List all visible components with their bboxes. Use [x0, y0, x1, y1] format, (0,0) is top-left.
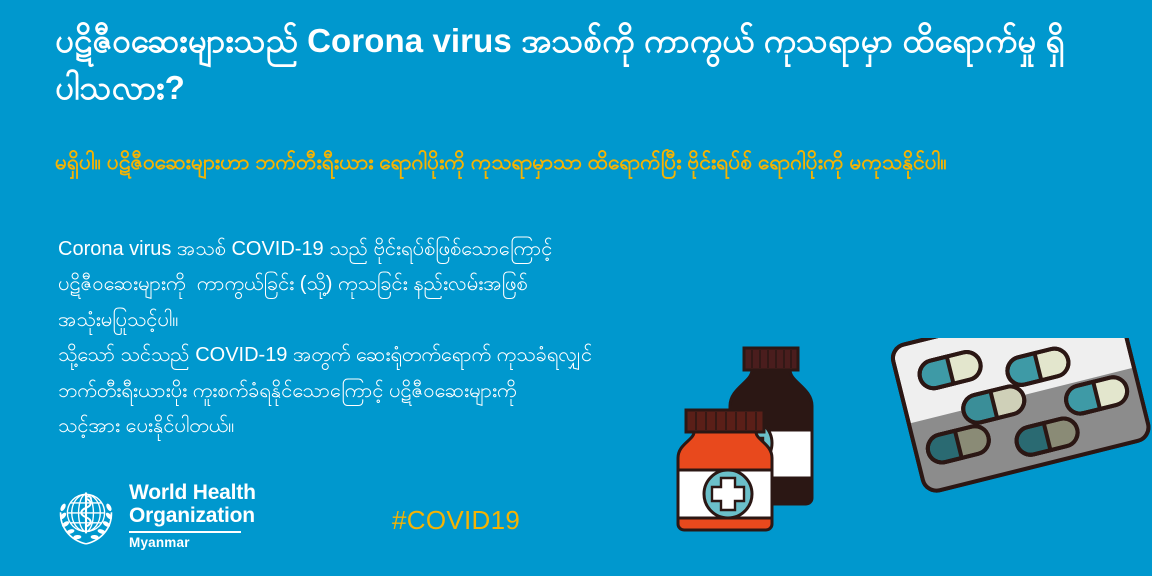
who-wordmark-divider — [129, 531, 241, 533]
body-line: ပဋိဇီဝဆေးများကို ကာကွယ်ခြင်း (သို့) ကုသခ… — [58, 267, 758, 302]
pill-blister-pack — [890, 338, 1151, 494]
who-emblem-icon — [55, 485, 117, 547]
body-line: သင့်အား ပေးနိုင်ပါတယ်။ — [58, 409, 758, 444]
answer-statement: မရှိပါ။ ပဋိဇီဝဆေးများဟာ ဘက်တီးရီးယား ရော… — [55, 146, 1085, 180]
who-wordmark: World Health Organization Myanmar — [129, 482, 256, 551]
body-line: ဘက်တီးရီးယားပိုး ကူးစက်ခံရနိုင်သောကြောင့… — [58, 374, 758, 409]
who-wordmark-line1: World Health — [129, 482, 256, 505]
who-country-label: Myanmar — [129, 536, 256, 551]
orange-medicine-bottle — [678, 410, 772, 530]
body-copy: Corona virus အသစ် COVID-19 သည် ဗိုင်းရပ်… — [58, 232, 758, 444]
page-title: ပဋိဇီဝဆေးများသည် Corona virus အသစ်ကို ကာ… — [55, 18, 1085, 112]
who-logo: World Health Organization Myanmar — [55, 482, 256, 551]
body-line: Corona virus အသစ် COVID-19 သည် ဗိုင်းရပ်… — [58, 232, 758, 267]
medicine-illustration — [672, 338, 1152, 576]
hashtag-label: #COVID19 — [392, 505, 520, 536]
body-line: သို့သော် သင်သည် COVID-19 အတွက် ဆေးရုံတက်… — [58, 338, 758, 373]
who-wordmark-line2: Organization — [129, 505, 256, 528]
body-line: အသုံးမပြုသင့်ပါ။ — [58, 303, 758, 338]
poster-canvas: ပဋိဇီဝဆေးများသည် Corona virus အသစ်ကို ကာ… — [0, 0, 1152, 576]
